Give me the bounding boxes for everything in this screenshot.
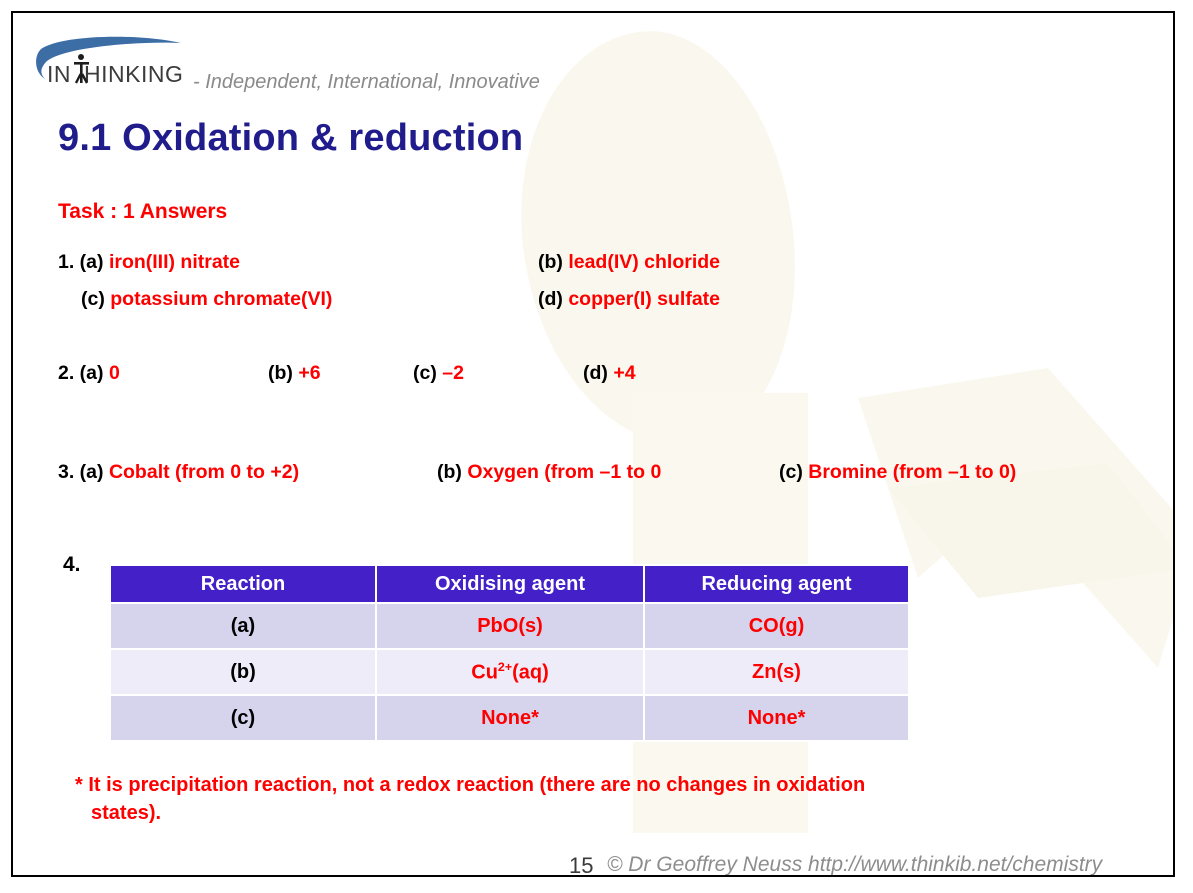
answer-3b: (b) Oxygen (from –1 to 0 <box>437 461 661 484</box>
answer-1a-value: iron(III) nitrate <box>109 251 240 273</box>
answer-2b-value: +6 <box>298 362 320 384</box>
copyright-credit: © Dr Geoffrey Neuss http://www.thinkib.n… <box>607 853 1102 877</box>
answer-1b-key: (b) <box>538 251 563 273</box>
answer-2d: (d) +4 <box>583 362 636 385</box>
answer-1b: (b) lead(IV) chloride <box>538 251 720 274</box>
answer-1d-key: (d) <box>538 288 563 310</box>
answer-2a-value: 0 <box>109 362 120 384</box>
task-label: Task : 1 Answers <box>58 200 227 224</box>
answer-2b: (b) +6 <box>268 362 321 385</box>
answer-1c-key: (c) <box>81 288 105 310</box>
page-number: 15 <box>569 853 593 877</box>
brand-logo: IN HINKING - Independent, International,… <box>31 33 591 95</box>
redox-agents-table: Reaction Oxidising agent Reducing agent … <box>109 564 910 742</box>
logo-word-in: IN <box>47 61 71 87</box>
answer-3b-value: Oxygen (from –1 to 0 <box>467 461 661 483</box>
cell-oxidising-b: Cu2+(aq) <box>377 650 643 694</box>
answer-3a: 3. (a) Cobalt (from 0 to +2) <box>58 461 299 484</box>
table-header-row: Reaction Oxidising agent Reducing agent <box>111 566 908 602</box>
cell-reducing-a: CO(g) <box>645 604 908 648</box>
cell-oxidising-a: PbO(s) <box>377 604 643 648</box>
answer-1c-value: potassium chromate(VI) <box>110 288 332 310</box>
cell-oxidising-b-state: (aq) <box>512 661 549 683</box>
cell-oxidising-b-charge: 2+ <box>498 660 512 674</box>
cell-oxidising-c: None* <box>377 696 643 740</box>
answer-2b-key: (b) <box>268 362 293 384</box>
answer-3c: (c) Bromine (from –1 to 0) <box>779 461 1016 484</box>
answer-1d-value: copper(I) sulfate <box>568 288 720 310</box>
column-header-reducing-agent: Reducing agent <box>645 566 908 602</box>
table-row: (a) PbO(s) CO(g) <box>111 604 908 648</box>
answer-1d: (d) copper(I) sulfate <box>538 288 720 311</box>
answer-2a: 2. (a) 0 <box>58 362 120 385</box>
table-row: (b) Cu2+(aq) Zn(s) <box>111 650 908 694</box>
answer-2c-value: –2 <box>442 362 464 384</box>
answer-3c-key: (c) <box>779 461 803 483</box>
cell-reaction-b: (b) <box>111 650 375 694</box>
answer-3c-value: Bromine (from –1 to 0) <box>808 461 1016 483</box>
answer-1c: (c) potassium chromate(VI) <box>81 288 332 311</box>
answer-3a-value: Cobalt (from 0 to +2) <box>109 461 299 483</box>
answer-1b-value: lead(IV) chloride <box>568 251 720 273</box>
table-footnote: * It is precipitation reaction, not a re… <box>75 771 1165 828</box>
cell-reducing-c: None* <box>645 696 908 740</box>
slide-frame: IN HINKING - Independent, International,… <box>11 11 1175 877</box>
answer-1a-key: 1. (a) <box>58 251 104 273</box>
inthinking-logo-icon: IN HINKING <box>31 33 191 91</box>
answer-3b-key: (b) <box>437 461 462 483</box>
answer-2c-key: (c) <box>413 362 437 384</box>
page-title: 9.1 Oxidation & reduction <box>58 117 523 160</box>
cell-oxidising-b-base: Cu <box>471 661 498 683</box>
cell-reducing-b: Zn(s) <box>645 650 908 694</box>
footnote-line-2: states). <box>91 799 161 827</box>
column-header-oxidising-agent: Oxidising agent <box>377 566 643 602</box>
cell-reaction-a: (a) <box>111 604 375 648</box>
answer-2d-key: (d) <box>583 362 608 384</box>
answer-3a-key: 3. (a) <box>58 461 104 483</box>
cell-reaction-c: (c) <box>111 696 375 740</box>
column-header-reaction: Reaction <box>111 566 375 602</box>
answer-2c: (c) –2 <box>413 362 464 385</box>
answer-2a-key: 2. (a) <box>58 362 104 384</box>
answer-2d-value: +4 <box>613 362 635 384</box>
footnote-line-1: * It is precipitation reaction, not a re… <box>75 774 865 796</box>
table-row: (c) None* None* <box>111 696 908 740</box>
logo-tagline: - Independent, International, Innovative <box>193 71 540 94</box>
question-4-number: 4. <box>63 553 81 577</box>
answer-1a: 1. (a) iron(III) nitrate <box>58 251 240 274</box>
logo-word-hinking: HINKING <box>84 61 183 87</box>
